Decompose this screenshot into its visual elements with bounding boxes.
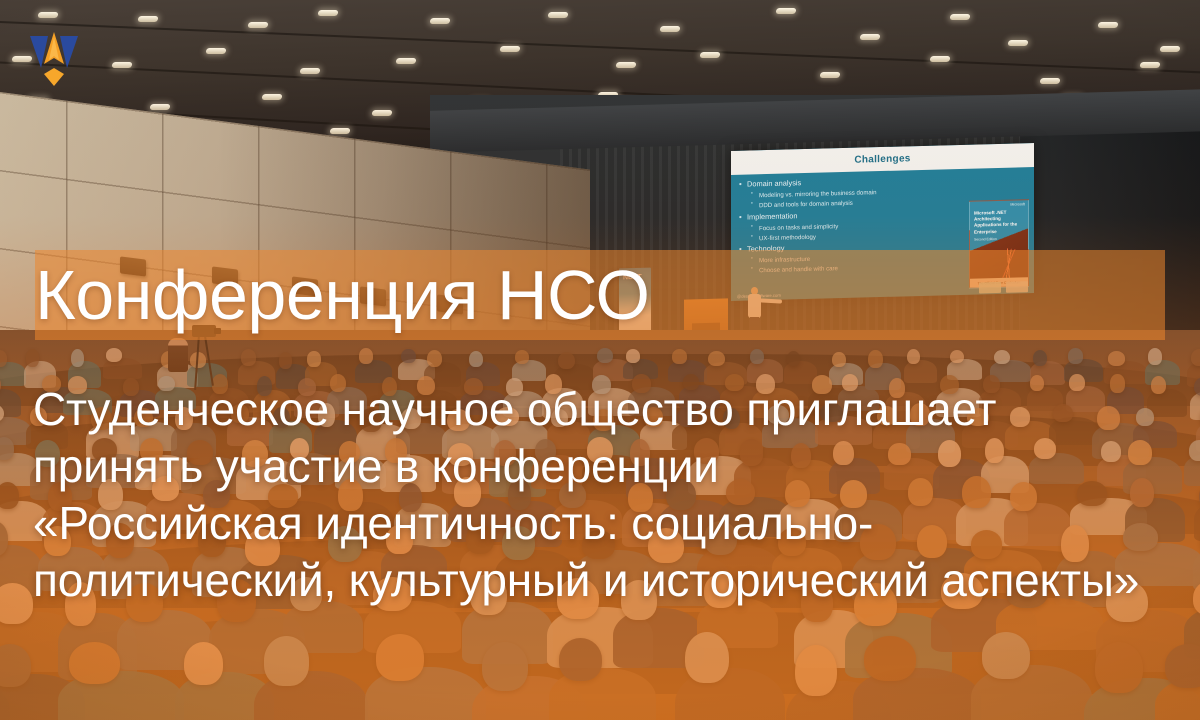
audience-member-head (1108, 351, 1125, 366)
audience-member-head (0, 583, 33, 623)
audience-member-head (1033, 350, 1047, 366)
book-title: Microsoft .NET Architecting Applications… (974, 209, 1024, 235)
university-crest-logo (26, 24, 82, 90)
auditorium-photo: Autodesk Monster 2014 Challenges Domain … (0, 0, 1200, 720)
audience-member-head (1148, 348, 1162, 365)
subtitle-line: Студенческое научное общество приглашает (33, 381, 1173, 438)
audience-member-head (1189, 440, 1200, 461)
audience-member-head (559, 638, 602, 681)
audience-member-head (795, 645, 837, 696)
page-title: Конференция НСО (35, 258, 649, 332)
audience-member-head (1095, 642, 1143, 693)
audience-member-head (832, 352, 846, 367)
audience-member-head (376, 634, 424, 681)
audience-member-head (1068, 348, 1084, 364)
audience-member-head (907, 349, 920, 365)
audience-member-head (427, 350, 442, 367)
audience-member-head (685, 632, 729, 683)
audience-member-head (558, 352, 575, 369)
audience-member-head (106, 348, 122, 362)
conference-poster: Autodesk Monster 2014 Challenges Domain … (0, 0, 1200, 720)
audience-member-head (71, 349, 84, 367)
audience-member-head (482, 642, 528, 691)
audience-member-head (401, 349, 416, 363)
audience-member-head (597, 348, 613, 363)
audience-member-head (515, 350, 529, 364)
book-brand: Microsoft (1010, 202, 1025, 206)
poster-subtitle: Студенческое научное общество приглашает… (33, 381, 1173, 609)
audience-member-head (359, 348, 374, 364)
audience-member-head (1165, 644, 1200, 687)
subtitle-line: принять участие в конференции (33, 438, 1173, 495)
camera-operator (168, 338, 188, 372)
audience-member-head (750, 349, 764, 364)
audience-member-head (264, 636, 310, 685)
audience-member-head (708, 351, 725, 367)
audience-member-head (982, 632, 1031, 679)
audience-member-head (279, 352, 293, 369)
book-subtitle: Second Edition (974, 237, 997, 242)
subtitle-line: «Российская идентичность: социально- (33, 495, 1173, 552)
audience-member-head (626, 349, 640, 363)
audience-member-head (26, 349, 39, 366)
audience-member-head (69, 642, 120, 685)
audience-member-head (184, 642, 223, 685)
audience-member-head (469, 351, 483, 367)
audience-member-head (950, 350, 964, 364)
audience-member-head (864, 636, 915, 681)
audience-member-head (868, 350, 883, 368)
slide-title: Challenges (854, 153, 910, 165)
audience-member-head (672, 349, 688, 364)
subtitle-line: политический, культурный и исторический … (33, 552, 1173, 609)
audience-member-head (241, 349, 256, 365)
audience-member-head (1191, 349, 1200, 366)
audience-member-head (307, 351, 320, 367)
audience-member-head (787, 351, 800, 366)
audience-member-head (0, 350, 7, 366)
audience-member-head (994, 350, 1010, 365)
